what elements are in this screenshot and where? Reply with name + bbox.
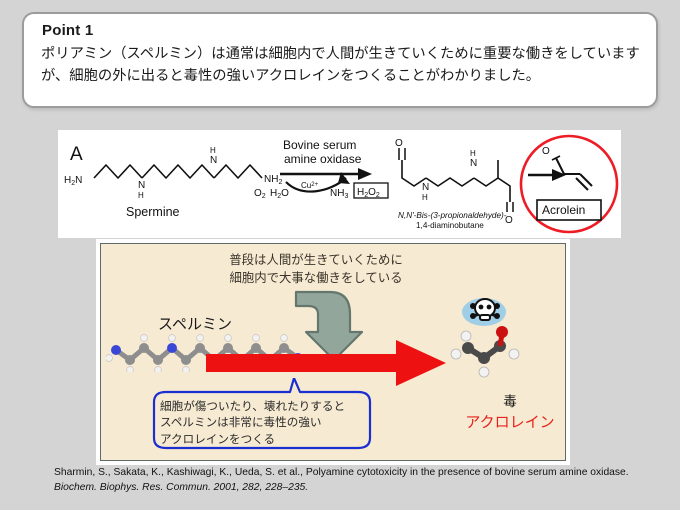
acrolein-japanese-label: アクロレイン bbox=[430, 411, 590, 432]
spermine-nh-1: N bbox=[138, 180, 145, 191]
reaction-arrow-head bbox=[358, 168, 372, 180]
product-nh-2-h: H bbox=[470, 149, 476, 158]
spermine-nh-1-h: H bbox=[138, 191, 144, 200]
product-nh-1: N bbox=[422, 182, 429, 193]
acrolein-oxygen: O bbox=[542, 146, 550, 157]
byproduct-nh3: NH3 bbox=[330, 188, 348, 200]
enzyme-name-line2: amine oxidase bbox=[284, 152, 362, 166]
spermine-left-amine: H2N bbox=[64, 175, 82, 187]
enzyme-name-line1: Bovine serum bbox=[283, 138, 356, 152]
acrolein-carbon-2 bbox=[478, 352, 490, 364]
spermine-name-label: Spermine bbox=[126, 205, 180, 219]
acrolein-carbon-1 bbox=[462, 342, 474, 354]
reaction-scheme-svg: A H2N N H N H NH2 Spermine Bovine serum … bbox=[58, 130, 621, 238]
citation-article-title: Polyamine cytotoxicity in the presence o… bbox=[306, 467, 629, 478]
slide-canvas: Point 1 ポリアミン（スペルミン）は通常は細胞内で人間が生きていくために重… bbox=[0, 0, 680, 510]
product-iupac-line1: N,N'-Bis-(3-propionaldehyde)- bbox=[398, 211, 507, 220]
point-body-text: ポリアミン（スペルミン）は通常は細胞内で人間が生きていくために重要な働きをしてい… bbox=[41, 44, 645, 87]
citation-authors: Sharmin, S., Sakata, K., Kashiwagi, K., … bbox=[54, 467, 303, 478]
acrolein-arrow-head bbox=[552, 169, 566, 181]
product-nh-1-h: H bbox=[422, 193, 428, 202]
spermine-model-label: スペルミン bbox=[158, 313, 232, 334]
callout-line1: 細胞が傷ついたり、壊れたりすると bbox=[160, 399, 366, 415]
point-card: Point 1 ポリアミン（スペルミン）は通常は細胞内で人間が生きていくために重… bbox=[22, 12, 658, 108]
citation: Sharmin, S., Sakata, K., Kashiwagi, K., … bbox=[54, 466, 646, 496]
normal-function-note-line2: 細胞内で大事な働きをしている bbox=[206, 270, 426, 288]
panel-letter-a: A bbox=[70, 144, 83, 165]
point-title: Point 1 bbox=[42, 22, 93, 39]
callout-line2: スペルミンは非常に毒性の強い bbox=[160, 415, 366, 431]
spermine-skeleton bbox=[94, 165, 262, 178]
acrolein-skeleton bbox=[556, 158, 580, 174]
spermine-nh-2: N bbox=[210, 155, 217, 166]
poison-label: 毒 bbox=[450, 394, 570, 411]
product-iupac-line2: 1,4-diaminobutane bbox=[416, 221, 484, 230]
citation-journal: Biochem. Biophys. Res. Commun. 2001, 282… bbox=[54, 482, 308, 493]
reactant-h2o: H2O bbox=[270, 188, 289, 200]
callout-line3: アクロレインをつくる bbox=[160, 432, 366, 448]
dialdehyde-skeleton bbox=[402, 160, 510, 202]
spermine-nh-2-h: H bbox=[210, 146, 216, 155]
chemistry-figure-panel: A H2N N H N H NH2 Spermine Bovine serum … bbox=[58, 130, 621, 238]
acrolein-co-bond bbox=[500, 334, 502, 346]
cofactor-cu2: Cu2+ bbox=[301, 181, 319, 190]
normal-function-note-line1: 普段は人間が生きていくために bbox=[206, 252, 426, 270]
spermine-right-amine: NH2 bbox=[264, 174, 282, 186]
acrolein-name-label: Acrolein bbox=[542, 203, 585, 217]
product-oxygen-left: O bbox=[395, 138, 403, 149]
acrolein-molecule-model bbox=[446, 296, 530, 388]
reactant-o2: O2 bbox=[254, 188, 266, 200]
product-nh-2: N bbox=[470, 158, 477, 169]
normal-function-note: 普段は人間が生きていくために 細胞内で大事な働きをしている bbox=[206, 252, 426, 288]
callout-text: 細胞が傷ついたり、壊れたりすると スペルミンは非常に毒性の強い アクロレインをつ… bbox=[160, 399, 366, 448]
